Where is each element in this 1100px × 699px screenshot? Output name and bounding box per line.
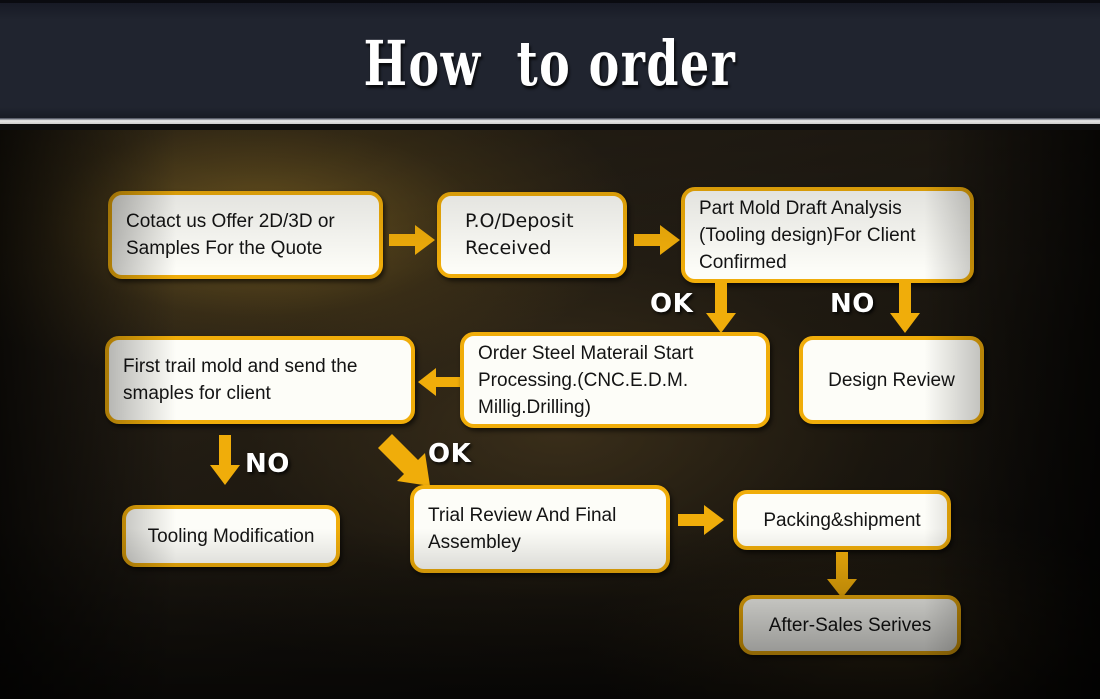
decision-label-ok-2: OK — [428, 440, 471, 468]
node-design-review[interactable]: Design Review — [799, 336, 984, 424]
connector-packing-to-after-sales — [827, 552, 857, 598]
flowchart-canvas: Cotact us Offer 2D/3D or Samples For the… — [0, 130, 1100, 699]
connector-trial-to-tooling — [210, 435, 240, 485]
connector-po-to-draft — [634, 225, 680, 255]
node-first-trial-mold[interactable]: First trail mold and send the smaples fo… — [105, 336, 415, 424]
page-title: How to order — [143, 27, 957, 101]
how-to-order-flowchart-page: How to order Cotact us Offer 2D/3D or Sa… — [0, 0, 1100, 699]
connector-draft-to-review — [890, 283, 920, 333]
node-part-mold-draft-analysis[interactable]: Part Mold Draft Analysis (Tooling design… — [681, 187, 974, 283]
decision-label-no-2: NO — [245, 450, 290, 478]
connector-contact-to-po — [389, 225, 435, 255]
node-after-sales-services[interactable]: After-Sales Serives — [739, 595, 961, 655]
node-tooling-modification[interactable]: Tooling Modification — [122, 505, 340, 567]
node-packing-shipment[interactable]: Packing&shipment — [733, 490, 951, 550]
connector-order-to-trial — [418, 368, 462, 396]
node-trial-review-final-assembly[interactable]: Trial Review And Final Assembley — [410, 485, 670, 573]
node-contact-us[interactable]: Cotact us Offer 2D/3D or Samples For the… — [108, 191, 383, 279]
node-po-deposit[interactable]: P.O/Deposit Received — [437, 192, 627, 278]
connector-assembly-to-packing — [678, 505, 724, 535]
page-header: How to order — [0, 0, 1100, 124]
decision-label-ok-1: OK — [650, 290, 693, 318]
node-order-steel-material[interactable]: Order Steel Materail Start Processing.(C… — [460, 332, 770, 428]
connector-draft-to-order — [706, 283, 736, 333]
decision-label-no-1: NO — [830, 290, 875, 318]
